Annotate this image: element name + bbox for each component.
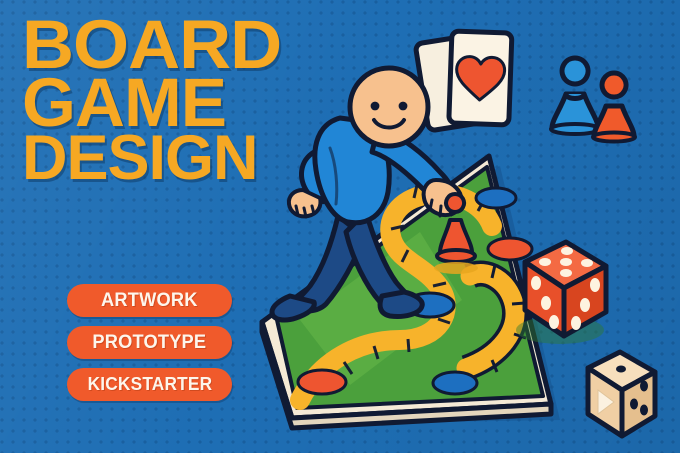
badge-list: ARTWORK PROTOTYPE KICKSTARTER [67, 284, 232, 410]
badge-prototype[interactable]: PROTOTYPE [67, 326, 232, 359]
headline-line-design: DESIGN [22, 132, 270, 185]
cream-die [588, 352, 655, 436]
badge-artwork[interactable]: ARTWORK [67, 284, 232, 317]
eye-left [371, 102, 380, 111]
right-shoe [380, 292, 422, 317]
badge-kickstarter[interactable]: KICKSTARTER [67, 368, 232, 401]
board-space-red-2 [488, 238, 532, 260]
pawn-orange [593, 73, 635, 141]
headline-group: BOARD GAME DESIGN [22, 16, 270, 185]
badge-artwork-label: ARTWORK [101, 290, 198, 312]
pawn-blue [551, 58, 599, 134]
badge-prototype-label: PROTOTYPE [93, 332, 207, 354]
board-space-blue-3 [476, 188, 516, 208]
head [350, 68, 428, 146]
board-space-red [298, 370, 346, 394]
poster-canvas: .ol{stroke:#101a33;stroke-width:5;stroke… [0, 0, 680, 453]
red-die [516, 242, 606, 344]
board-space-blue-2 [433, 372, 477, 394]
badge-kickstarter-label: KICKSTARTER [87, 374, 212, 395]
playing-cards [415, 31, 512, 131]
eye-right [399, 102, 408, 111]
